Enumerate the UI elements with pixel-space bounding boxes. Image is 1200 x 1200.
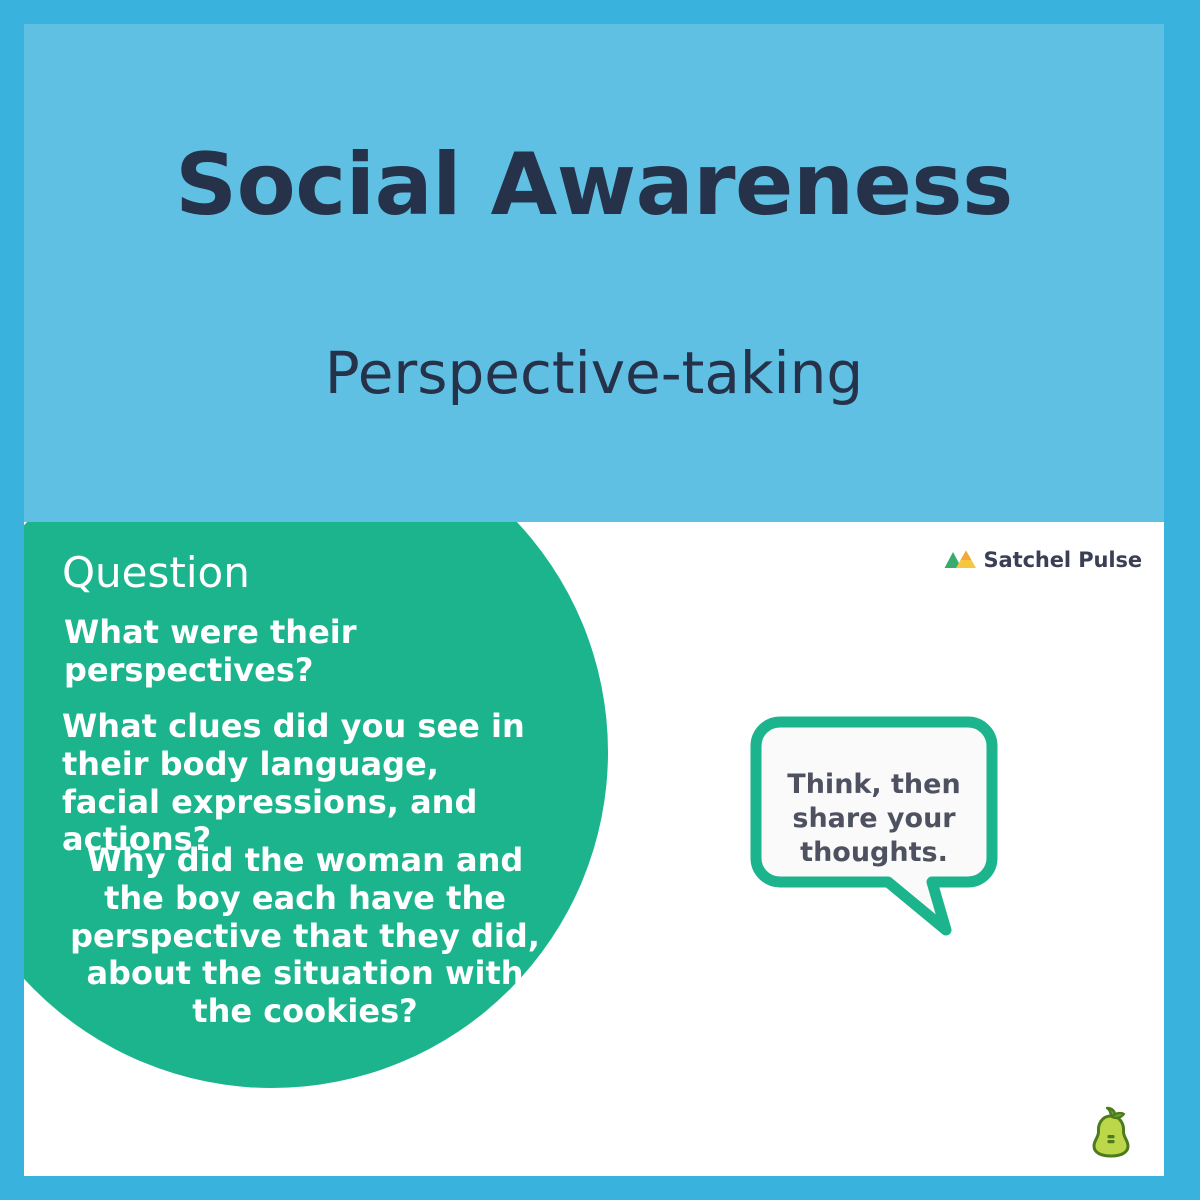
slide-canvas: Social Awareness Perspective-taking Ques… xyxy=(0,0,1200,1200)
brand-name: Satchel Pulse xyxy=(984,548,1142,572)
speech-bubble-text: Think, then share your thoughts. xyxy=(750,768,998,870)
title-panel: Social Awareness Perspective-taking xyxy=(24,24,1164,522)
question-line-1: What were their perspectives? xyxy=(64,614,374,690)
question-line-3: Why did the woman and the boy each have … xyxy=(70,842,540,1031)
pear-deck-pear-icon xyxy=(1090,1106,1132,1158)
question-heading: Question xyxy=(62,552,482,594)
satchel-pulse-triangles-icon xyxy=(943,550,977,570)
speech-bubble: Think, then share your thoughts. xyxy=(750,716,998,938)
content-panel: Question What were their perspectives? W… xyxy=(24,522,1164,1176)
brand-lockup: Satchel Pulse xyxy=(943,548,1142,572)
page-subtitle: Perspective-taking xyxy=(24,342,1164,406)
question-line-2: What clues did you see in their body lan… xyxy=(62,708,542,859)
page-title: Social Awareness xyxy=(24,140,1164,230)
